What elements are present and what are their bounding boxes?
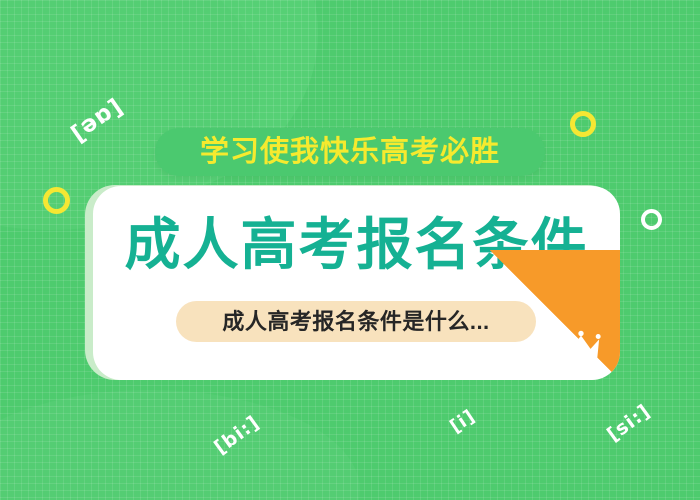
- top-slogan-banner: 学习使我快乐高考必胜: [155, 128, 545, 176]
- phonetic-si: [si:]: [603, 400, 655, 446]
- background-bottom-glow: [0, 390, 360, 500]
- decorative-ring-yellow-left: [43, 187, 70, 214]
- subtitle-pill: 成人高考报名条件是什么...: [176, 301, 536, 342]
- main-card: 成人高考报名条件 成人高考报名条件是什么...: [93, 186, 620, 380]
- decorative-ring-white-right: [641, 209, 662, 230]
- top-slogan-text: 学习使我快乐高考必胜: [200, 138, 500, 167]
- crown-icon: [560, 330, 602, 364]
- subtitle-text: 成人高考报名条件是什么...: [222, 311, 489, 333]
- decorative-ring-yellow-top: [570, 111, 596, 137]
- poster-canvas: [ɑe] [bi:] [i] [si:] 学习使我快乐高考必胜 成人高考报名条件…: [0, 0, 700, 500]
- phonetic-i: [i]: [446, 406, 479, 438]
